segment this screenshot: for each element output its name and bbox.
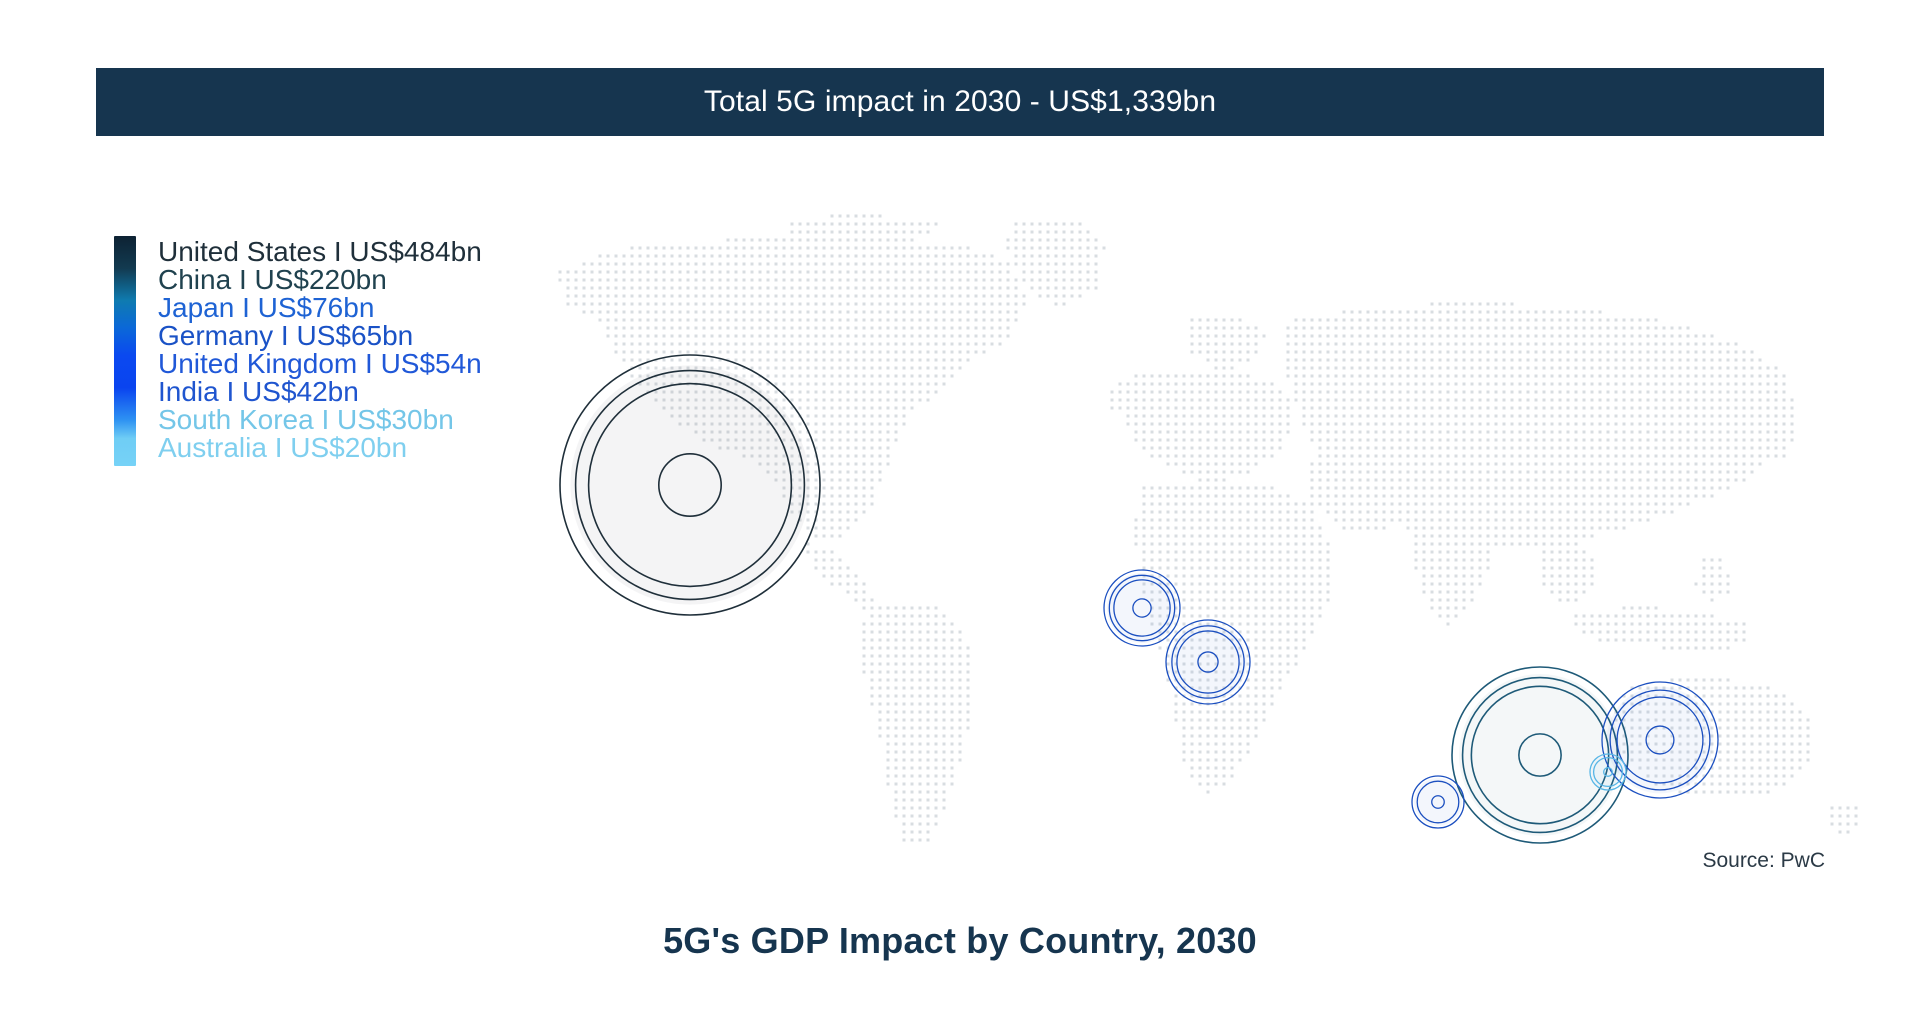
legend-item-united-states[interactable]: United States I US$484bn [158,238,482,266]
legend-item-japan[interactable]: Japan I US$76bn [158,294,482,322]
legend-item-australia[interactable]: Australia I US$20bn [158,434,482,462]
legend-item-united-kingdom[interactable]: United Kingdom I US$54n [158,350,482,378]
header-banner: Total 5G impact in 2030 - US$1,339bn [96,68,1824,136]
bubble-india[interactable]: India I US$42bn [1412,776,1464,828]
source-note: Source: PwC [1702,849,1825,873]
legend-item-germany[interactable]: Germany I US$65bn [158,322,482,350]
page-title: Total 5G impact in 2030 - US$1,339bn [704,85,1216,119]
legend-item-china[interactable]: China I US$220bn [158,266,482,294]
bubble-germany[interactable]: Germany I US$65bn [1166,620,1250,704]
bubble-layer: United States I US$484bnChina I US$220bn… [560,355,1718,850]
bubble-united-states[interactable]: United States I US$484bn [560,355,820,615]
legend-item-south-korea[interactable]: South Korea I US$30bn [158,406,482,434]
legend-item-india[interactable]: India I US$42bn [158,378,482,406]
world-bubble-map: United States I US$484bnChina I US$220bn… [540,210,1870,850]
chart-caption: 5G's GDP Impact by Country, 2030 [0,920,1920,962]
legend-gradient-bar [114,236,136,466]
legend: United States I US$484bn China I US$220b… [114,236,482,466]
bubble-south-korea[interactable]: South Korea I US$30bn [1590,754,1626,790]
legend-item-list: United States I US$484bn China I US$220b… [158,236,482,466]
bubble-united-kingdom[interactable]: United Kingdom I US$54n [1104,570,1180,646]
